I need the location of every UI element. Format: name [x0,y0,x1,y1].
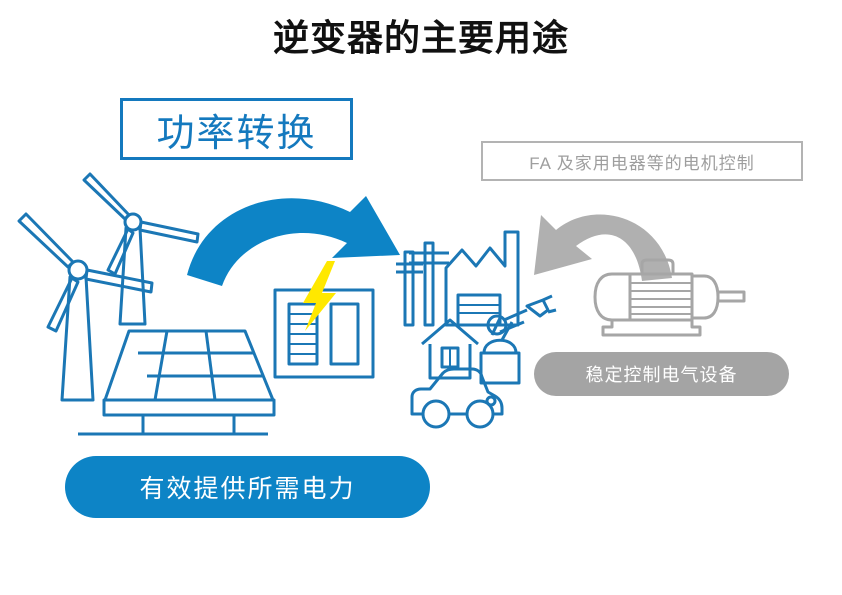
stable-control-pill-text: 稳定控制电气设备 [586,361,738,387]
inverter-cabinet-icon [275,290,373,377]
wind-turbine-icon [84,174,198,324]
car-icon [412,369,502,427]
lightning-bolt-icon [303,261,336,331]
diagram-canvas: 逆变器的主要用途 [0,0,842,595]
wind-turbine-icon [19,214,152,400]
stable-control-pill: 稳定控制电气设备 [534,352,789,396]
solar-panel-icon [78,331,274,434]
blue-curved-arrow [187,196,400,286]
electric-motor-icon [595,260,744,335]
motor-control-label-box: FA 及家用电器等的电机控制 [481,141,803,181]
factory-icon [446,232,518,325]
supply-power-pill: 有效提供所需电力 [65,456,430,518]
motor-control-label-text: FA 及家用电器等的电机控制 [529,149,755,174]
house-icon [422,320,478,378]
power-conversion-label-text: 功率转换 [156,102,316,157]
power-pole-icon [396,243,449,325]
page-title: 逆变器的主要用途 [0,16,842,60]
supply-power-pill-text: 有效提供所需电力 [139,469,355,505]
power-conversion-label-box: 功率转换 [120,98,353,160]
gray-curved-arrow [534,214,672,281]
